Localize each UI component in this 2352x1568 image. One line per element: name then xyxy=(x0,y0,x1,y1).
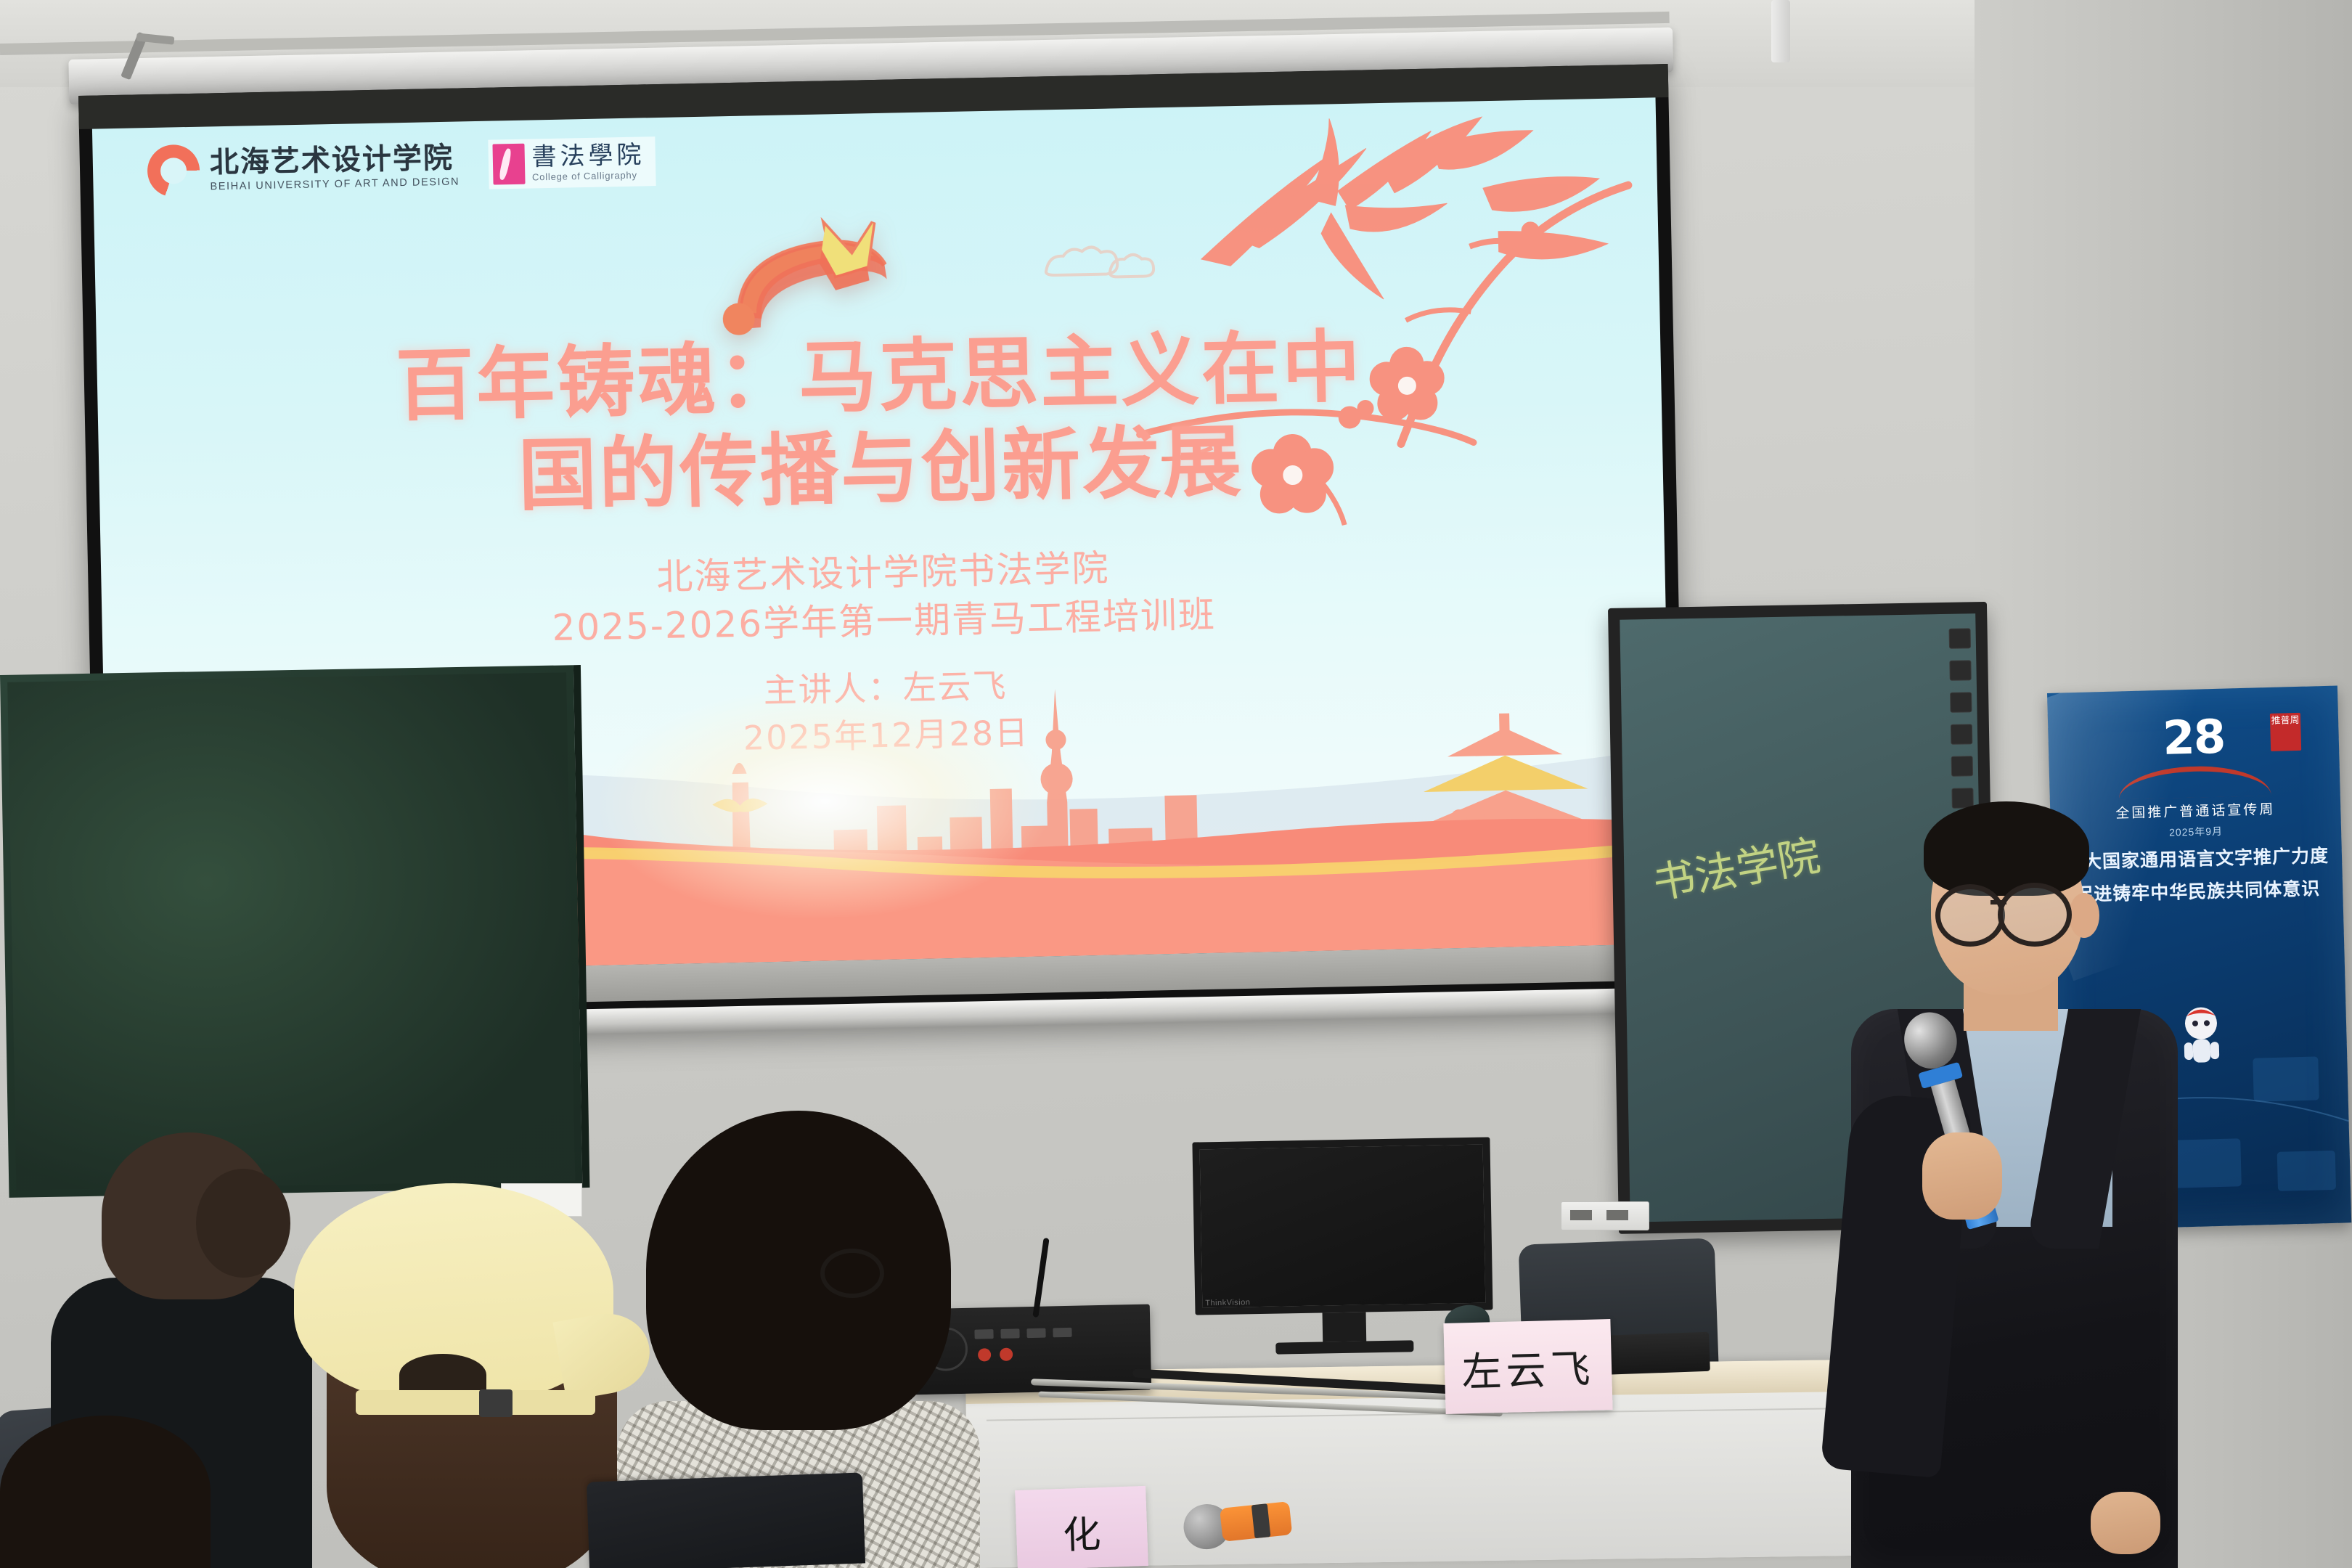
poster-seal: 推普周 xyxy=(2270,713,2301,751)
microphone-band xyxy=(1251,1503,1271,1538)
college-name-cn: 書法學院 xyxy=(531,142,645,169)
cap-brim xyxy=(552,1307,656,1401)
slide-logo-row: 北海艺术设计学院 BEIHAI UNIVERSITY OF ART AND DE… xyxy=(147,135,656,197)
cap-buckle xyxy=(479,1389,513,1417)
monitor-screen[interactable] xyxy=(1192,1137,1493,1315)
amplifier-ports[interactable] xyxy=(974,1328,1071,1339)
classroom-photo: 北海艺术设计学院 BEIHAI UNIVERSITY OF ART AND DE… xyxy=(0,0,2352,1568)
audience-student-4 xyxy=(0,1416,218,1568)
left-blackboard-surface xyxy=(7,672,575,1190)
party-emblem-icon xyxy=(689,200,924,349)
whiteboard-button-pen[interactable] xyxy=(1949,660,1971,681)
monitor-base xyxy=(1275,1340,1413,1354)
presenter-person xyxy=(1808,791,2214,1568)
slide-title: 百年铸魂：马克思主义在中 国的传播与创新发展 xyxy=(97,315,1664,531)
eyeglasses-icon xyxy=(1998,883,2072,947)
left-blackboard xyxy=(0,665,589,1198)
amplifier-port[interactable] xyxy=(1026,1328,1045,1339)
eyeglasses-icon xyxy=(1935,884,2005,947)
student-3-eyeglasses-icon xyxy=(820,1249,884,1298)
presenter-hand-lower xyxy=(2091,1492,2160,1554)
student-4-hair xyxy=(0,1416,211,1568)
slide-title-line1: 百年铸魂：马克思主义在中 xyxy=(395,322,1363,433)
student-name-text: 化 xyxy=(1062,1503,1102,1559)
university-logo: 北海艺术设计学院 BEIHAI UNIVERSITY OF ART AND DE… xyxy=(147,139,460,197)
monitor-brand-label: ThinkVision xyxy=(1205,1298,1250,1307)
cap-strap xyxy=(356,1390,595,1415)
amplifier-red-terminal[interactable] xyxy=(1000,1348,1013,1361)
calligraphy-college-logo: 書法學院 College of Calligraphy xyxy=(488,136,656,189)
brush-stroke-icon xyxy=(492,144,525,185)
monitor-stand xyxy=(1323,1312,1367,1342)
wall-outlet-plate[interactable] xyxy=(1561,1201,1649,1230)
college-name-en: College of Calligraphy xyxy=(532,169,645,182)
whiteboard-button-volume[interactable] xyxy=(1951,724,1972,745)
presenter-hand-holding-mic xyxy=(1922,1132,2002,1220)
whiteboard-button-display[interactable] xyxy=(1949,628,1971,649)
sun-glow xyxy=(597,680,1052,921)
whiteboard-button-menu[interactable] xyxy=(1951,756,1973,777)
amplifier-port[interactable] xyxy=(1053,1328,1071,1338)
university-name-cn: 北海艺术设计学院 xyxy=(209,143,459,177)
student-name-card: 化 xyxy=(1015,1486,1148,1568)
ceiling-pipe xyxy=(1771,0,1790,62)
eyeglasses-bridge xyxy=(1990,900,2006,905)
presenter-name-card: 左云飞 xyxy=(1443,1319,1612,1414)
amplifier-port[interactable] xyxy=(1000,1328,1019,1339)
presenter-ear xyxy=(2069,893,2099,938)
student-3-hair xyxy=(646,1111,951,1430)
student-laptop[interactable] xyxy=(587,1472,865,1568)
swirl-icon xyxy=(147,144,200,197)
whiteboard-button-source[interactable] xyxy=(1950,692,1972,713)
presenter-name-text: 左云飞 xyxy=(1461,1336,1595,1397)
presenter-hair xyxy=(1924,801,2089,896)
